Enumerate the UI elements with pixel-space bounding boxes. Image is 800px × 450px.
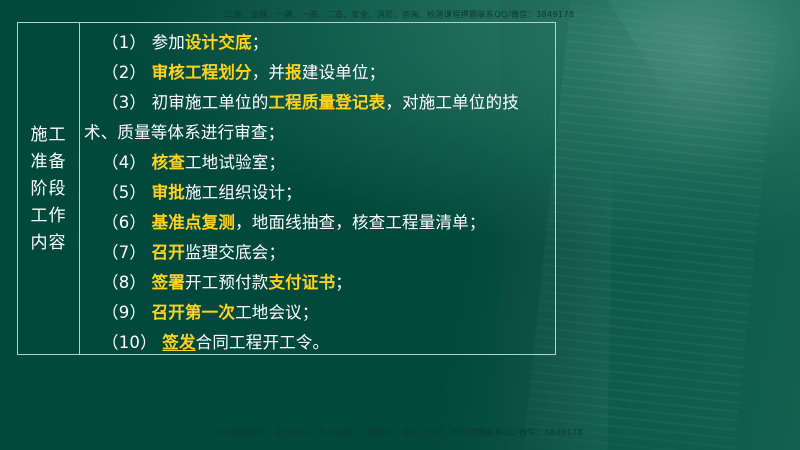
highlighted-text: 设计交底 [185,33,252,52]
list-item: （8） 签署开工预付款支付证书； [84,268,549,298]
list-item: （9） 召开第一次工地会议； [84,298,549,328]
body-text: 参加 [152,33,185,52]
list-item-number: （10） [102,333,157,352]
highlighted-text: 审核工程划分 [152,63,252,82]
body-text: ，并 [252,63,285,82]
body-text: 合同工程开工令。 [196,333,330,352]
list-item: （2） 审核工程划分，并报建设单位； [84,58,549,88]
list-item: （1） 参加设计交底； [84,28,549,58]
highlighted-text: 工程质量登记表 [268,93,385,112]
body-text: 工地试验室； [185,153,285,172]
list-item: （6） 基准点复测，地面线抽查，核查工程量清单； [84,208,549,238]
watermark-top: 二建、监理、一建、一造、二造、安全、消防、咨询、检测课程押题联系QQ/微信：38… [0,9,800,20]
watermark-bottom: 名师面授精华、考全内训、考点串讲、习题模考、考前三页纸、绝密押题联系QQ/微信：… [0,427,800,438]
list-item-number: （3） [102,93,146,112]
list-item: （10） 签发合同工程开工令。 [84,328,549,358]
row-label-line: 阶段 [31,176,67,202]
list-item-number: （2） [102,63,146,82]
list-item: （4） 核查工地试验室； [84,148,549,178]
body-text: 建设单位； [302,63,386,82]
body-text: ； [252,33,269,52]
highlighted-text: 召开 [152,243,185,262]
highlighted-text: 签署 [152,273,185,292]
list-item-number: （7） [102,243,146,262]
body-text: 初审施工单位的 [152,93,269,112]
body-text: 监理交底会； [185,243,285,262]
body-text: ； [335,273,352,292]
table-content-cell: （1） 参加设计交底；（2） 审核工程划分，并报建设单位；（3） 初审施工单位的… [80,23,555,354]
row-label-line: 施工 [31,122,67,148]
list-item-number: （5） [102,183,146,202]
row-label-line: 准备 [31,149,67,175]
highlighted-text: 核查 [152,153,185,172]
slide-canvas: 二建、监理、一建、一造、二造、安全、消防、咨询、检测课程押题联系QQ/微信：38… [0,0,800,450]
highlighted-text: 基准点复测 [152,213,236,232]
list-item-number: （6） [102,213,146,232]
body-text: 工地会议； [235,303,319,322]
row-label-line: 内容 [31,230,67,256]
highlighted-text: 支付证书 [268,273,335,292]
content-table: 施工 准备 阶段 工作 内容 （1） 参加设计交底；（2） 审核工程划分，并报建… [17,22,556,355]
body-text: ，地面线抽查，核查工程量清单； [235,213,486,232]
row-label-line: 工作 [31,203,67,229]
list-item: （7） 召开监理交底会； [84,238,549,268]
list-item-number: （4） [102,153,146,172]
body-text: 施工组织设计； [185,183,302,202]
highlighted-text: 签发 [162,333,195,352]
list-item-number: （8） [102,273,146,292]
highlighted-text: 报 [285,63,302,82]
table-row-label-cell: 施工 准备 阶段 工作 内容 [18,23,80,354]
highlighted-text: 审批 [152,183,185,202]
list-item-number: （9） [102,303,146,322]
list-item: （5） 审批施工组织设计； [84,178,549,208]
list-item-number: （1） [102,33,146,52]
highlighted-text: 召开第一次 [152,303,236,322]
body-text: 开工预付款 [185,273,269,292]
list-item: （3） 初审施工单位的工程质量登记表，对施工单位的技术、质量等体系进行审查； [84,88,549,148]
